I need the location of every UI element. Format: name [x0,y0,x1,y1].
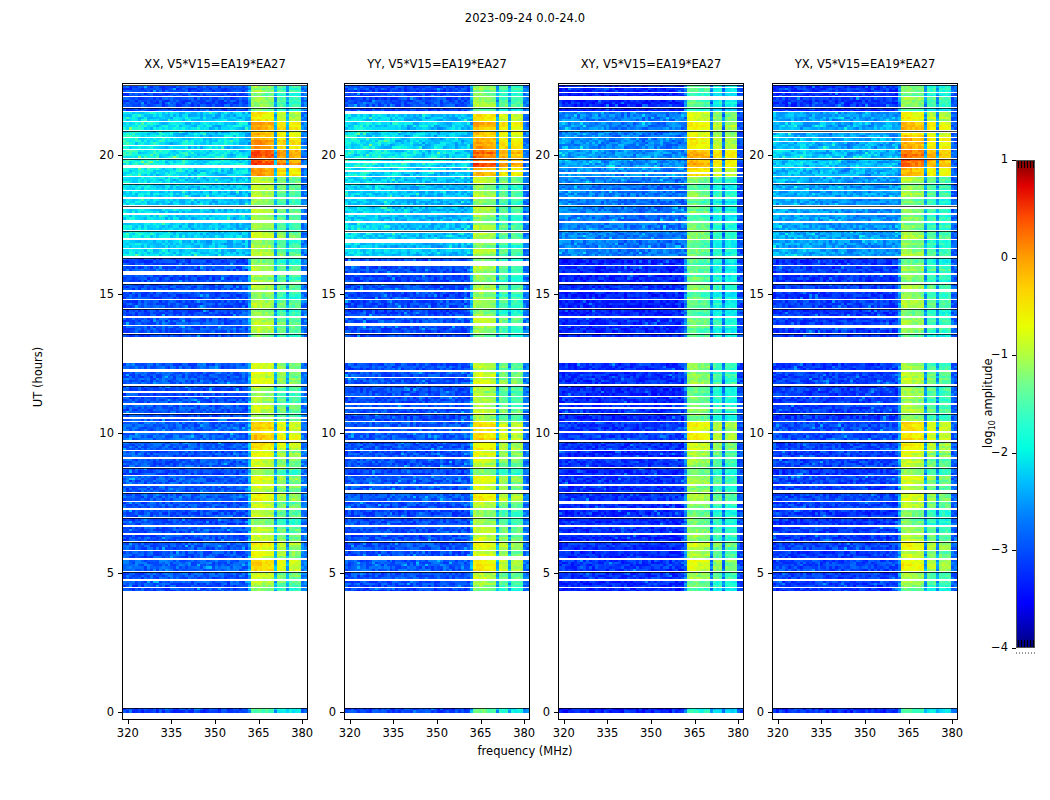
scan-row [773,502,957,508]
spectrum-cell [304,280,307,282]
colorbar-minor-tick [1018,640,1019,647]
scan-separator [345,572,529,573]
y-tick-label: 15 [730,287,764,301]
waterfall-image-yy [345,84,529,719]
scan-row [345,414,529,420]
scan-row [345,85,529,93]
scan-row [123,159,307,167]
colorbar-tick-label: −3 [978,542,1008,556]
spectrum-cell [526,237,529,239]
spectrum-cell [526,203,529,205]
waterfall-image-yx [773,84,957,719]
scan-row [559,122,743,130]
scan-row [123,518,307,525]
spectrum-cell [740,465,743,467]
spectrum-cell [740,490,743,492]
scan-row [345,386,529,395]
x-tick [393,720,394,724]
spectrum-cell [526,168,529,170]
spectrum-cell [954,523,957,525]
spectrum-cell [304,388,307,391]
scan-separator [123,468,307,469]
scan-row [123,318,307,325]
spectrum-cell [526,110,529,112]
spectrum-cell [954,506,957,508]
scan-separator [123,572,307,573]
y-tick-label: 10 [516,426,550,440]
y-tick [340,573,344,574]
scan-separator [123,309,307,310]
y-tick-label: 5 [516,566,550,580]
spectrum-cell [304,498,307,500]
y-tick-label: 0 [516,705,550,719]
x-tick [564,720,565,724]
x-tick [215,720,216,724]
scan-row [773,249,957,256]
spectrum-cell [526,228,529,230]
scan-row [559,300,743,307]
scan-separator [123,258,307,259]
y-tick-label: 20 [80,148,114,162]
spectrum-cell [526,219,529,221]
spectrum-cell [304,174,307,176]
spectrum-cell [740,203,743,205]
y-tick-label: 15 [516,287,550,301]
scan-row [345,240,529,247]
spectrum-cell [526,211,529,213]
scan-row [773,258,957,265]
scan-separator [123,493,307,494]
waterfall-panel-xy[interactable] [558,83,744,720]
scan-separator [773,309,957,310]
scan-row [559,318,743,325]
spectrum-cell [954,119,957,121]
spectrum-cell [526,419,529,421]
spectrum-cell [304,119,307,121]
scan-separator [123,414,307,415]
scan-row [345,551,529,558]
colorbar-tick [1012,648,1016,649]
spectrum-cell [526,330,529,332]
spectrum-cell [954,488,957,490]
spectrum-cell [304,419,307,421]
spectrum-cell [304,263,307,265]
scan-row [773,85,957,93]
scan-row [773,386,957,395]
scan-row [559,223,743,230]
scan-row [345,275,529,282]
spectrum-cell [740,523,743,525]
x-tick-label: 380 [282,726,322,740]
spectrum-cell [740,411,743,413]
waterfall-panel-xx[interactable] [122,83,308,720]
scan-row [345,108,529,111]
y-tick [118,433,122,434]
spectrum-cell [740,181,743,183]
spectrum-cell [954,174,957,176]
scan-row [559,468,743,474]
scan-row [773,334,957,337]
scan-row [773,542,957,549]
colorbar-minor-tick [1030,161,1031,168]
colorbar-tick-label: −1 [978,347,1008,361]
scan-row [773,527,957,533]
scan-row [773,372,957,384]
scan-separator [559,206,743,207]
spectrum-cell [740,314,743,316]
waterfall-panel-yy[interactable] [344,83,530,720]
spectrum-cell [954,135,957,137]
spectrum-cell [954,515,957,517]
scan-separator [345,258,529,259]
spectrum-cell [304,411,307,413]
scan-separator [559,468,743,469]
scan-row [773,405,957,413]
scan-row [123,266,307,273]
scan-row [345,131,529,137]
scan-row [123,551,307,558]
scan-separator [773,414,957,415]
scan-separator [559,572,743,573]
colorbar-minor-tick [1021,161,1022,168]
scan-row [559,581,743,587]
scan-row [773,300,957,307]
spectrum-cell [526,405,529,407]
spectrum-cell [740,104,743,106]
scan-row [123,231,307,239]
spectrum-cell [954,146,957,148]
scan-row [345,215,529,222]
scan-row [559,451,743,457]
scan-row [773,397,957,403]
scan-row [345,334,529,337]
spectrum-cell [954,188,957,190]
y-tick-label: 15 [80,287,114,301]
scan-separator [123,542,307,543]
scan-row [123,93,307,96]
scan-row [773,510,957,517]
scan-separator [123,708,307,709]
spectrum-cell [954,590,957,592]
spectrum-cell [526,465,529,467]
scan-row [345,206,529,213]
scan-row [123,486,307,492]
colorbar-minor-tick [1021,640,1022,647]
x-tick-label: 335 [801,726,841,740]
spectrum-cell [954,322,957,324]
scan-row [345,518,529,525]
spectrum-cell [304,547,307,549]
figure-suptitle: 2023-09-24 0.0-24.0 [0,11,1050,25]
scan-row [123,131,307,137]
waterfall-image-xx [123,84,307,719]
scan-separator [123,108,307,109]
y-tick [118,294,122,295]
spectrum-cell [740,455,743,457]
spectrum-cell [740,237,743,239]
scan-row [123,397,307,403]
spectrum-cell [954,110,957,112]
scan-row [559,397,743,403]
spectrum-cell [526,531,529,533]
scan-row [345,588,529,591]
scan-separator [773,284,957,285]
scan-separator [123,284,307,285]
spectrum-cell [740,448,743,450]
spectrum-cell [954,411,957,413]
x-tick [909,720,910,724]
scan-row [123,284,307,291]
spectrum-cell [740,515,743,517]
scan-row [559,97,743,106]
spectrum-cell [526,515,529,517]
spectrum-cell [954,419,957,421]
scan-row [345,581,529,587]
spectrum-cell [954,473,957,475]
scan-row [123,527,307,533]
spectrum-cell [304,322,307,324]
spectrum-cell [954,280,957,282]
spectrum-cell [740,135,743,137]
scan-separator [345,284,529,285]
scan-separator [559,231,743,232]
colorbar-minor-tick [1018,161,1019,168]
spectrum-cell [740,170,743,172]
scan-separator [345,131,529,132]
scan-separator [559,518,743,519]
y-tick [554,294,558,295]
scan-separator [345,206,529,207]
spectrum-cell [526,188,529,190]
spectrum-cell [304,590,307,592]
spectrum-cell [740,506,743,508]
scan-row [345,258,529,265]
spectrum-cell [526,245,529,247]
colorbar[interactable] [1016,160,1035,648]
spectrum-cell [740,305,743,307]
spectrum-cell [304,314,307,316]
colorbar-minor-tick [1024,161,1025,168]
scan-separator [123,334,307,335]
scan-row [773,309,957,316]
scan-row [559,442,743,450]
x-tick-label: 320 [108,726,148,740]
scan-separator [773,572,957,573]
waterfall-panel-yx[interactable] [772,83,958,720]
spectrum-cell [526,104,529,106]
spectrum-cell [954,156,957,158]
scan-row [773,560,957,571]
scan-row [773,275,957,282]
scan-separator [123,442,307,443]
y-tick [768,155,772,156]
scan-row [345,122,529,130]
y-tick [768,573,772,574]
scan-row [559,215,743,222]
spectrum-cell [740,419,743,421]
scan-row [123,240,307,247]
scan-row [773,414,957,420]
colorbar-minor-tick [1027,161,1028,168]
scan-row [559,112,743,120]
spectrum-cell [954,585,957,587]
scan-separator [559,131,743,132]
spectrum-cell [526,254,529,256]
scan-row [773,112,957,120]
y-tick-label: 0 [80,705,114,719]
scan-row [773,199,957,205]
scan-row [123,177,307,183]
scan-separator [123,159,307,160]
spectrum-cell [740,393,743,395]
scan-row [123,334,307,337]
spectrum-cell [954,165,957,167]
x-tick-label: 335 [151,726,191,740]
y-tick [768,294,772,295]
scan-row [123,191,307,198]
scan-separator [559,542,743,543]
scan-row [345,191,529,198]
scan-row [123,326,307,333]
scan-row [773,108,957,111]
spectrum-cell [954,429,957,431]
spectrum-cell [954,438,957,440]
scan-separator [773,131,957,132]
scan-row [773,518,957,525]
scan-row [123,199,307,205]
scan-row [559,334,743,337]
scan-separator [773,542,957,543]
spectrum-cell [526,314,529,316]
scan-row [559,510,743,517]
x-tick [481,720,482,724]
x-tick-label: 320 [544,726,584,740]
scan-separator [773,184,957,185]
spectrum-cell [740,368,743,370]
scan-row [123,138,307,149]
scan-row [559,518,743,525]
x-tick-label: 350 [631,726,671,740]
scan-row [123,542,307,549]
colorbar-minor-tick [1030,640,1031,647]
y-tick [118,712,122,713]
scan-row [559,266,743,273]
scan-row [559,206,743,213]
scan-row [345,397,529,403]
spectrum-cell [954,531,957,533]
scan-separator [773,493,957,494]
scan-row [345,112,529,120]
spectrum-cell [526,554,529,557]
scan-row [559,131,743,137]
spectrum-cell [526,455,529,457]
scan-separator [773,85,957,86]
spectrum-cell [954,455,957,457]
scan-row [559,231,743,239]
panel-title-xy: XY, V5*V15=EA19*EA27 [558,57,744,71]
scan-row [559,326,743,333]
scan-separator [773,206,957,207]
scan-row [345,451,529,457]
spectrum-cell [954,547,957,549]
spectrum-cell [740,531,743,533]
spectrum-cell [304,228,307,230]
spectrum-cell [304,188,307,190]
spectrum-cell [954,465,957,467]
spectrum-cell [526,320,529,323]
scan-row [773,551,957,558]
scan-row [559,386,743,395]
x-tick [778,720,779,724]
spectrum-cell [526,127,529,130]
scan-separator [123,184,307,185]
spectrum-cell [740,322,743,324]
spectrum-cell [304,142,307,145]
spectrum-cell [954,482,957,484]
scan-row [345,159,529,167]
scan-row [773,266,957,273]
x-tick [821,720,822,724]
y-tick-label: 5 [302,566,336,580]
y-tick [118,573,122,574]
colorbar-tick-label: 1 [978,152,1008,166]
scan-row [773,708,957,712]
spectrum-cell [304,235,307,237]
spectrum-cell [954,368,957,370]
scan-row [559,184,743,190]
spectrum-cell [954,254,957,256]
scan-row [345,372,529,384]
y-tick [118,155,122,156]
spectrum-cell [740,539,743,541]
panel-title-xx: XX, V5*V15=EA19*EA27 [122,57,308,71]
spectrum-cell [740,165,743,167]
spectrum-cell [740,195,743,197]
scan-row [345,231,529,239]
colorbar-minor-tick [1033,161,1034,168]
spectrum-cell [740,401,743,403]
y-tick-label: 20 [516,148,550,162]
scan-row [559,422,743,431]
y-tick-label: 15 [302,287,336,301]
scan-separator [345,442,529,443]
scan-row [345,292,529,299]
scan-row [559,275,743,282]
spectrum-cell [526,498,529,500]
spectrum-cell [526,547,529,549]
scan-row [123,184,307,190]
spectrum-cell [954,203,957,205]
scan-row [345,300,529,307]
spectrum-cell [526,181,529,183]
scan-row [123,476,307,484]
scan-row [123,442,307,450]
spectrum-cell [304,245,307,247]
scan-row [345,572,529,579]
spectrum-cell [304,585,307,587]
scan-row [559,258,743,265]
x-tick-label: 365 [889,726,929,740]
x-tick [171,720,172,724]
scan-row [123,112,307,120]
scan-row [345,284,529,291]
scan-row [345,476,529,484]
spectrum-cell [526,174,529,176]
spectrum-cell [740,95,743,97]
scan-row [559,177,743,183]
scan-row [123,300,307,307]
spectrum-cell [954,195,957,197]
